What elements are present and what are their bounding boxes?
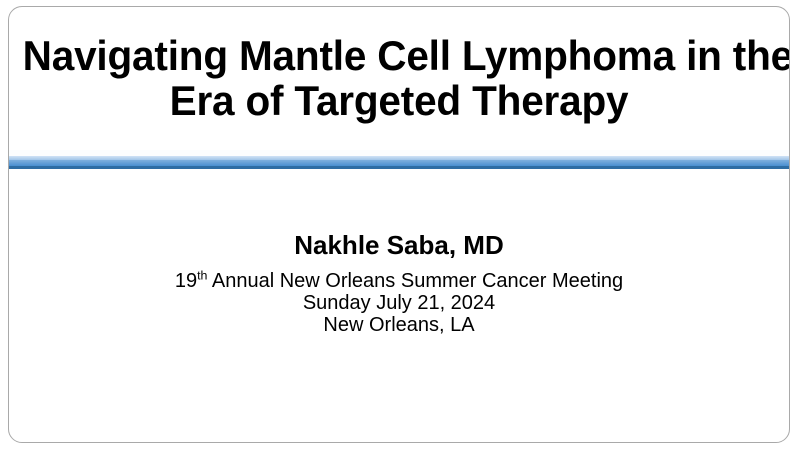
- meeting-date: Sunday July 21, 2024: [9, 292, 789, 314]
- presenter-name: Nakhle Saba, MD: [9, 229, 789, 261]
- meeting-ordinal-suffix: th: [197, 268, 207, 282]
- divider-bar: [9, 150, 789, 169]
- title-line-1: Navigating Mantle Cell Lymphoma in the: [23, 33, 776, 78]
- presenter-block: Nakhle Saba, MD 19th Annual New Orleans …: [9, 229, 789, 336]
- meeting-ordinal-number: 19: [175, 270, 197, 292]
- title-line-2: Era of Targeted Therapy: [23, 78, 776, 123]
- slide-frame: Navigating Mantle Cell Lymphoma in the E…: [8, 6, 790, 443]
- divider-band-dark: [9, 166, 789, 169]
- meeting-location: New Orleans, LA: [9, 314, 789, 336]
- meeting-name-line: 19th Annual New Orleans Summer Cancer Me…: [9, 270, 789, 292]
- meeting-name-text: Annual New Orleans Summer Cancer Meeting: [207, 270, 623, 292]
- slide-title: Navigating Mantle Cell Lymphoma in the E…: [9, 33, 789, 123]
